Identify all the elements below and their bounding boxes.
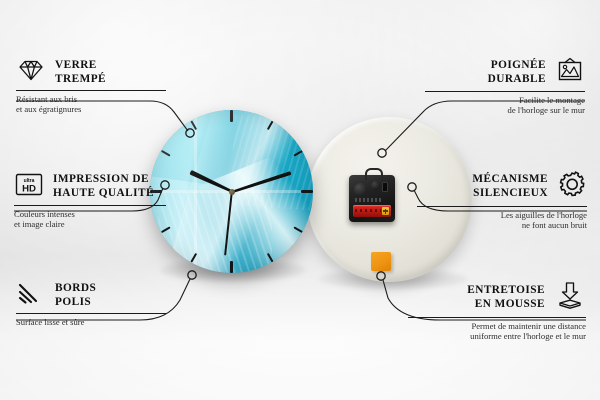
callout-title: ENTRETOISE EN MOUSSE xyxy=(467,284,545,311)
callout-divider xyxy=(16,313,166,314)
callout-subtitle: Les aiguilles de l'horloge ne font aucun… xyxy=(417,210,587,231)
diamond-icon xyxy=(16,58,46,87)
picture-hanger-icon xyxy=(555,57,585,88)
battery xyxy=(353,205,391,217)
clock-mechanism xyxy=(349,175,395,222)
callout-title: POIGNÉE DURABLE xyxy=(488,59,546,86)
battery-positive-terminal xyxy=(382,207,389,215)
callout-title: VERRE TREMPÉ xyxy=(55,59,106,86)
callout-poignee-durable: POIGNÉE DURABLE Facilite le montage de l… xyxy=(425,57,585,116)
gear-icon xyxy=(557,170,587,203)
mechanism-hanger-tab xyxy=(365,168,383,180)
callout-subtitle: Permet de maintenir une distance uniform… xyxy=(408,321,586,342)
callout-mecanisme-silencieux: MÉCANISME SILENCIEUX Les aiguilles de l'… xyxy=(417,170,587,231)
callout-divider xyxy=(16,90,166,91)
callout-title: MÉCANISME SILENCIEUX xyxy=(472,173,548,200)
ultra-hd-icon: ultra HD xyxy=(14,172,44,202)
mechanism-dial-secondary xyxy=(371,181,380,190)
callout-divider xyxy=(408,317,586,318)
mechanism-dial xyxy=(354,183,367,196)
callout-title: IMPRESSION DE HAUTE QUALITÉ xyxy=(53,173,154,200)
callout-bords-polis: BORDS POLIS Surface lisse et sûre xyxy=(16,281,166,327)
foam-spacer-icon xyxy=(554,281,586,314)
infographic-canvas: VERRE TREMPÉ Résistant aux bris et aux é… xyxy=(0,0,600,400)
callout-verre-trempe: VERRE TREMPÉ Résistant aux bris et aux é… xyxy=(16,58,166,115)
callout-subtitle: Résistant aux bris et aux égratignures xyxy=(16,94,166,115)
polished-edges-icon xyxy=(16,281,46,310)
callout-divider xyxy=(14,205,166,206)
clock-glass-gloss xyxy=(150,110,313,273)
callout-subtitle: Surface lisse et sûre xyxy=(16,317,166,327)
callout-divider xyxy=(425,91,585,92)
svg-text:HD: HD xyxy=(22,184,36,195)
callout-title: BORDS POLIS xyxy=(55,282,96,309)
callout-subtitle: Facilite le montage de l'horloge sur le … xyxy=(425,95,585,116)
callout-impression-haute-qualite: ultra HD IMPRESSION DE HAUTE QUALITÉ Cou… xyxy=(14,172,166,230)
mechanism-print xyxy=(355,198,383,202)
clock-face xyxy=(150,110,313,273)
foam-spacer xyxy=(371,252,391,271)
callout-subtitle: Couleurs intenses et image claire xyxy=(14,209,166,230)
callout-entretoise-en-mousse: ENTRETOISE EN MOUSSE Permet de maintenir… xyxy=(408,281,586,342)
mechanism-slot xyxy=(382,182,388,192)
battery-label-band xyxy=(355,209,381,212)
callout-divider xyxy=(417,206,587,207)
